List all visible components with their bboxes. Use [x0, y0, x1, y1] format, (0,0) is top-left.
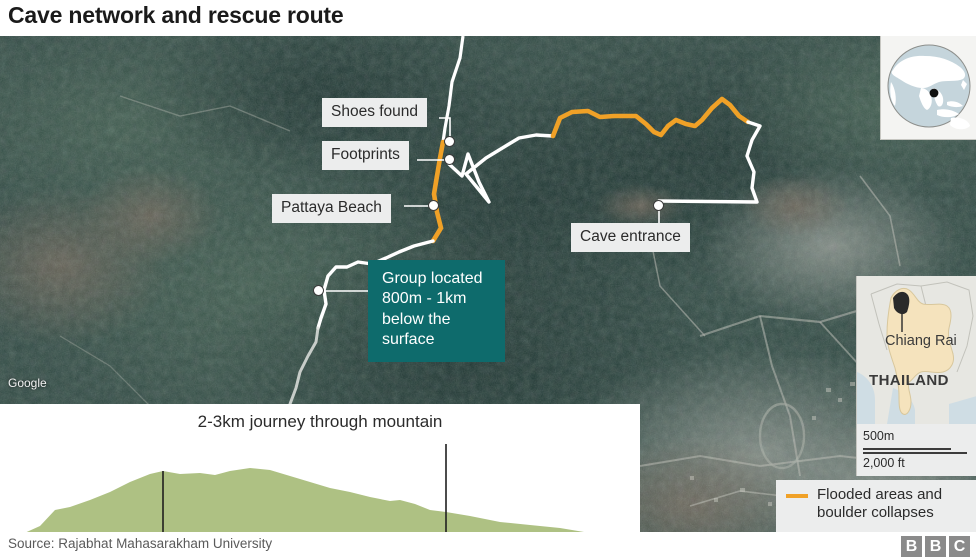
marker-group-located[interactable] [313, 285, 324, 296]
footer: Source: Rajabhat Mahasarakham University… [0, 532, 976, 560]
scale-bar: 500m 2,000 ft [856, 424, 976, 476]
legend-swatch-flooded [786, 494, 808, 498]
route-white-zigzag [449, 135, 553, 202]
satellite-map[interactable]: Shoes found Footprints Pattaya Beach Cav… [0, 36, 976, 532]
location-dot-icon [930, 89, 939, 98]
route-orange-trunk [553, 99, 748, 136]
route-white-tail [290, 328, 318, 404]
legend-label-flooded: Flooded areas and boulder collapses [817, 486, 968, 522]
callout-shoes-found[interactable]: Shoes found [322, 98, 427, 127]
elevation-profile-panel: 2-3km journey through mountain Group Ent… [0, 404, 640, 532]
marker-footprints[interactable] [444, 154, 455, 165]
globe-svg [881, 36, 976, 140]
callout-pattaya-beach[interactable]: Pattaya Beach [272, 194, 391, 223]
header: Cave network and rescue route [0, 0, 976, 36]
bbc-logo-letter-1: B [901, 536, 922, 557]
marker-pattaya-beach[interactable] [428, 200, 439, 211]
callout-cave-entrance[interactable]: Cave entrance [571, 223, 690, 252]
infobox-line-2: 800m - 1km [382, 289, 493, 309]
bbc-logo: B B C [901, 536, 970, 557]
thailand-label: THAILAND [869, 372, 949, 389]
globe-inset [880, 36, 976, 140]
bbc-logo-letter-2: B [925, 536, 946, 557]
infobox-line-4: surface [382, 330, 493, 350]
infobox-group-located: Group located 800m - 1km below the surfa… [368, 260, 505, 362]
bbc-logo-letter-3: C [949, 536, 970, 557]
chiang-rai-text: Chiang Rai [885, 334, 957, 349]
route-white-upper [443, 36, 463, 142]
elevation-profile-chart [0, 404, 640, 532]
infobox-line-3: below the [382, 310, 493, 330]
google-attribution: Google [8, 376, 47, 390]
page-title: Cave network and rescue route [8, 2, 343, 29]
mountain-area [0, 468, 640, 532]
scale-metric-rule [863, 448, 951, 450]
marker-shoes-found[interactable] [444, 136, 455, 147]
thailand-inset: Chiang Rai THAILAND [856, 276, 976, 424]
chiang-rai-label: Chiang Rai [885, 334, 957, 349]
route-white-east [659, 122, 760, 202]
scale-imperial-label: 2,000 ft [863, 456, 905, 470]
scale-imperial-rule [863, 452, 967, 454]
source-note: Source: Rajabhat Mahasarakham University [8, 536, 272, 551]
bbc-map-graphic: Cave network and rescue route [0, 0, 976, 560]
infobox-line-1: Group located [382, 269, 493, 289]
marker-cave-entrance[interactable] [653, 200, 664, 211]
callout-footprints[interactable]: Footprints [322, 141, 409, 170]
legend: Flooded areas and boulder collapses [776, 480, 976, 532]
scale-metric-label: 500m [863, 429, 894, 443]
route-orange-pattaya [433, 142, 443, 241]
thailand-map-svg [857, 276, 976, 424]
